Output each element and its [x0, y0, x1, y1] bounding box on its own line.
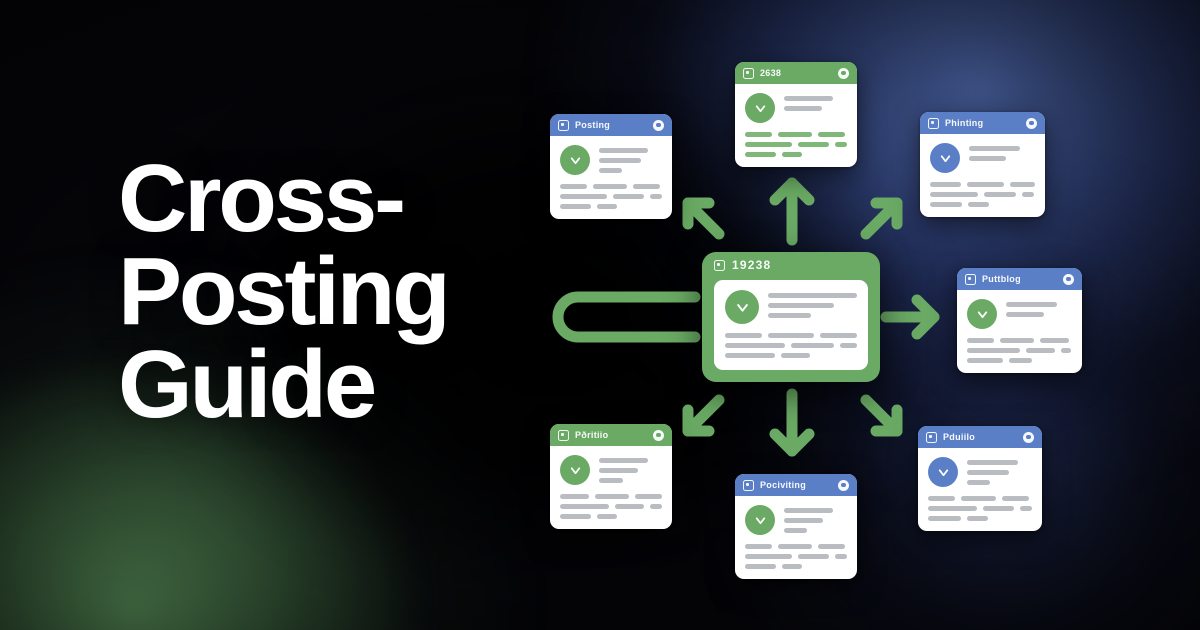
- title-line-1: Cross-: [118, 152, 638, 245]
- card-title: Phinting: [945, 118, 983, 128]
- card-text-block: [930, 182, 1035, 207]
- close-icon[interactable]: [838, 480, 849, 491]
- center-card-titlebar: 19238: [702, 252, 880, 278]
- card-body: [735, 496, 857, 579]
- center-card-body: [714, 280, 868, 370]
- card-titlebar: Pduiilo: [918, 426, 1042, 448]
- destination-card-top-right[interactable]: Phinting: [920, 112, 1045, 217]
- title-line-3: Guide: [118, 338, 638, 431]
- window-icon: [714, 260, 725, 271]
- card-title: Puttblog: [982, 274, 1021, 284]
- card-body: [550, 446, 672, 529]
- card-body: [735, 84, 857, 167]
- card-body: [920, 134, 1045, 217]
- destination-card-bottom-left[interactable]: Pðritiio: [550, 424, 672, 529]
- card-title: 2638: [760, 68, 781, 78]
- avatar: [725, 290, 759, 324]
- title-line-2: Posting: [118, 245, 638, 338]
- card-headline-lines: [784, 93, 847, 111]
- card-text-block: [745, 132, 847, 157]
- card-headline-lines: [967, 457, 1032, 485]
- poster-canvas: Cross- Posting Guide: [0, 0, 1200, 630]
- avatar: [745, 505, 775, 535]
- card-body: [918, 448, 1042, 531]
- window-icon: [558, 120, 569, 131]
- close-icon[interactable]: [1063, 274, 1074, 285]
- close-icon[interactable]: [1023, 432, 1034, 443]
- card-titlebar: Puttblog: [957, 268, 1082, 290]
- center-headline-lines: [768, 290, 857, 318]
- card-headline-lines: [784, 505, 847, 533]
- center-card-title: 19238: [732, 258, 771, 272]
- destination-card-right[interactable]: Puttblog: [957, 268, 1082, 373]
- avatar: [930, 143, 960, 173]
- window-icon: [743, 480, 754, 491]
- card-text-block: [560, 494, 662, 519]
- avatar: [560, 455, 590, 485]
- avatar: [745, 93, 775, 123]
- center-text-block: [725, 333, 857, 358]
- window-icon: [926, 432, 937, 443]
- source-post-card[interactable]: 19238: [702, 252, 880, 382]
- window-icon: [743, 68, 754, 79]
- card-title: Posting: [575, 120, 610, 130]
- window-icon: [965, 274, 976, 285]
- card-title: Pðritiio: [575, 430, 608, 440]
- destination-card-bottom-center[interactable]: Pociviting: [735, 474, 857, 579]
- close-icon[interactable]: [653, 430, 664, 441]
- card-text-block: [745, 544, 847, 569]
- card-titlebar: 2638: [735, 62, 857, 84]
- destination-card-top-center[interactable]: 2638: [735, 62, 857, 167]
- card-text-block: [928, 496, 1032, 521]
- card-titlebar: Phinting: [920, 112, 1045, 134]
- card-text-block: [967, 338, 1072, 363]
- window-icon: [928, 118, 939, 129]
- card-title: Pduiilo: [943, 432, 975, 442]
- card-titlebar: Posting: [550, 114, 672, 136]
- page-title: Cross- Posting Guide: [118, 152, 638, 431]
- avatar: [928, 457, 958, 487]
- close-icon[interactable]: [838, 68, 849, 79]
- card-body: [957, 290, 1082, 373]
- card-titlebar: Pociviting: [735, 474, 857, 496]
- card-headline-lines: [1006, 299, 1072, 317]
- avatar: [967, 299, 997, 329]
- card-headline-lines: [599, 455, 662, 483]
- close-icon[interactable]: [653, 120, 664, 131]
- card-headline-lines: [969, 143, 1035, 161]
- destination-card-bottom-right[interactable]: Pduiilo: [918, 426, 1042, 531]
- close-icon[interactable]: [1026, 118, 1037, 129]
- card-title: Pociviting: [760, 480, 806, 490]
